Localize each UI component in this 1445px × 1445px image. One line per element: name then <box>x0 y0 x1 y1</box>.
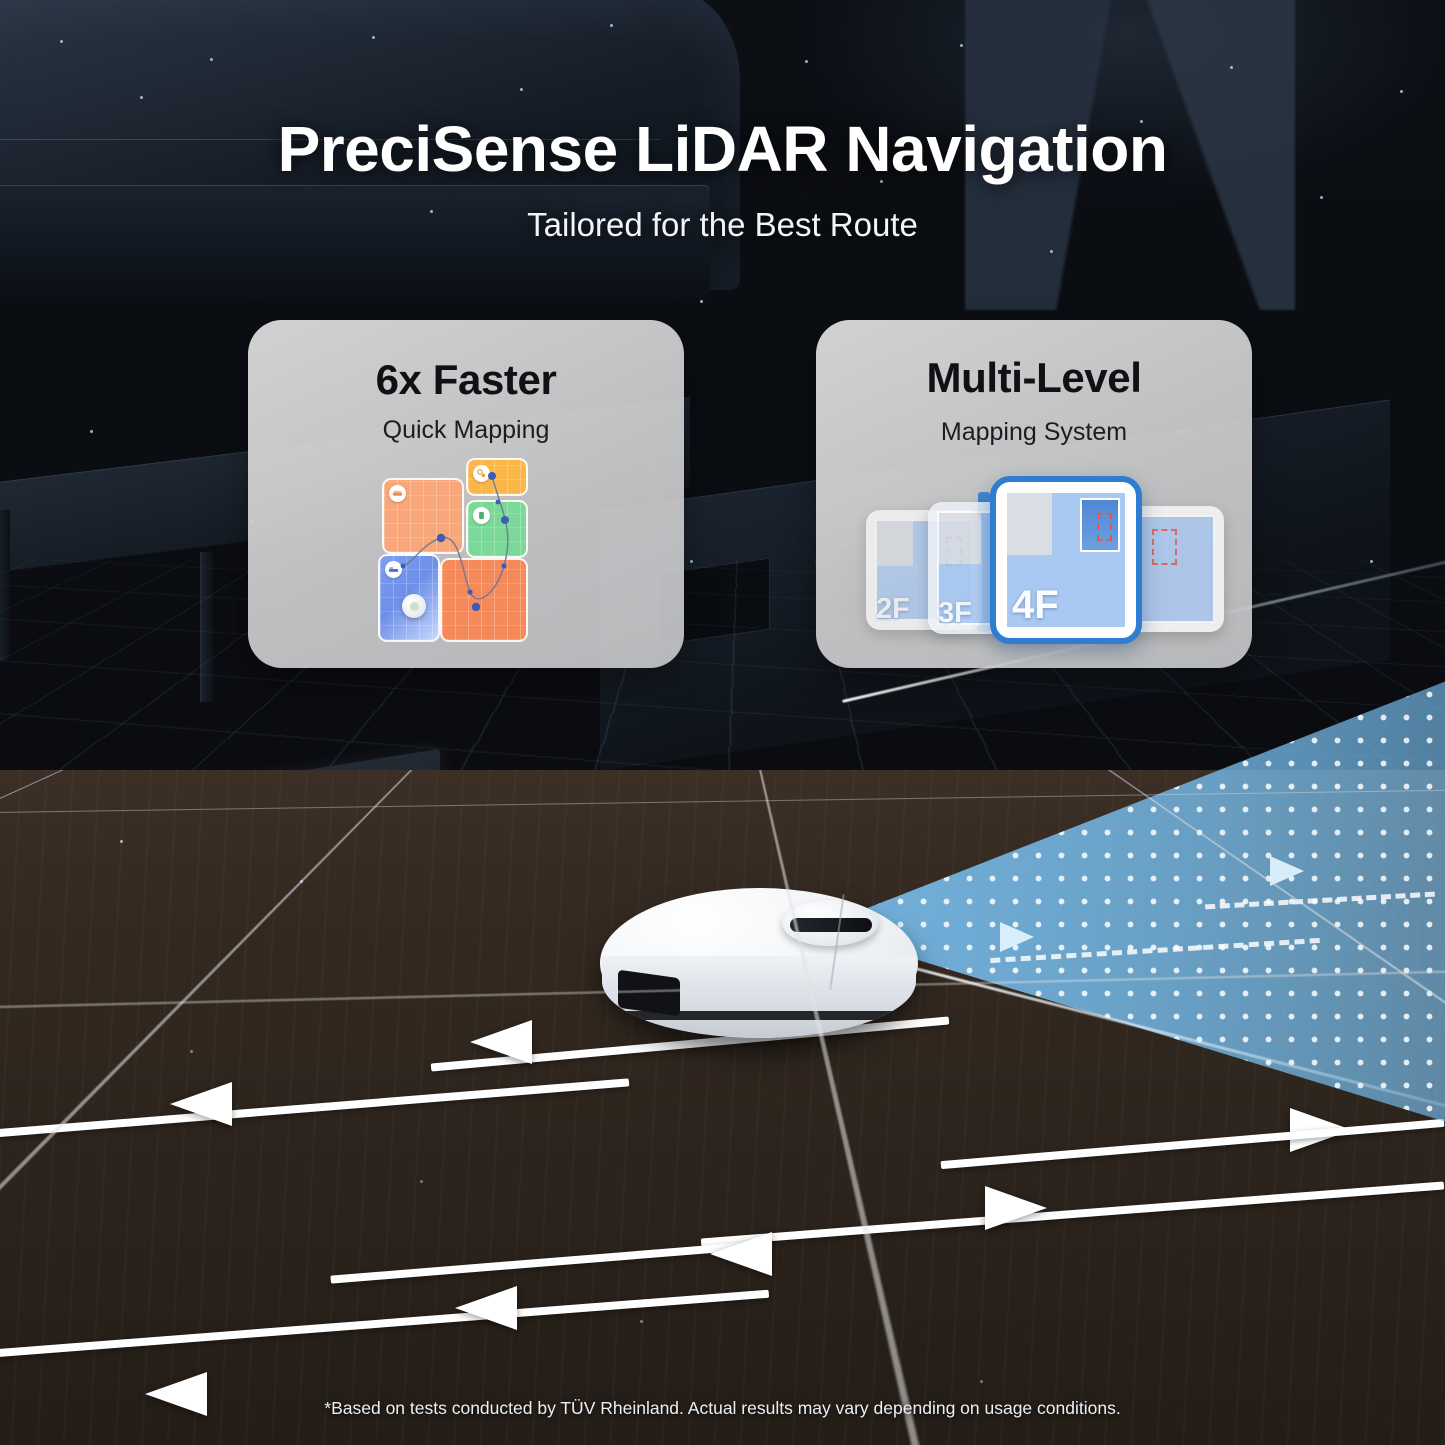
path-arrow-head <box>710 1232 772 1276</box>
floor-label: 2F <box>876 593 910 626</box>
floor-stack-diagram: 2F 3F 1F <box>840 476 1228 646</box>
no-go-zone <box>1152 529 1177 564</box>
card-subtitle: Mapping System <box>816 418 1252 447</box>
path-arrow-head <box>170 1082 232 1126</box>
page-title: PreciSense LiDAR Navigation <box>0 112 1445 186</box>
lidar-dash-arrow-head <box>1270 856 1304 886</box>
no-go-zone <box>1097 513 1112 541</box>
robot-vacuum <box>600 878 930 1068</box>
footnote-disclaimer: *Based on tests conducted by TÜV Rheinla… <box>0 1398 1445 1419</box>
room-map-diagram <box>378 458 558 648</box>
floor-label: 4F <box>1012 583 1059 628</box>
floorplan-room-dark <box>1080 498 1120 552</box>
card-title: 6x Faster <box>248 356 684 404</box>
path-arrow-head <box>470 1020 532 1064</box>
floor-label: 3F <box>938 597 972 630</box>
card-title: Multi-Level <box>816 354 1252 402</box>
floorplan-notch <box>1007 493 1052 555</box>
floor-card-4f-selected[interactable]: 4F <box>990 476 1142 644</box>
page-subtitle: Tailored for the Best Route <box>0 206 1445 244</box>
floorplan-notch <box>877 521 913 566</box>
cleaning-route <box>378 458 558 648</box>
lidar-dash-arrow-head <box>1000 922 1034 952</box>
card-subtitle: Quick Mapping <box>248 416 684 445</box>
feature-card-multi-level[interactable]: Multi-Level Mapping System 2F 3F <box>816 320 1252 668</box>
floorplan-notch <box>939 513 981 564</box>
path-arrow-head <box>455 1286 517 1330</box>
robot-lidar-window <box>790 918 872 932</box>
feature-card-quick-mapping[interactable]: 6x Faster Quick Mapping <box>248 320 684 668</box>
path-arrow-head <box>985 1186 1047 1230</box>
